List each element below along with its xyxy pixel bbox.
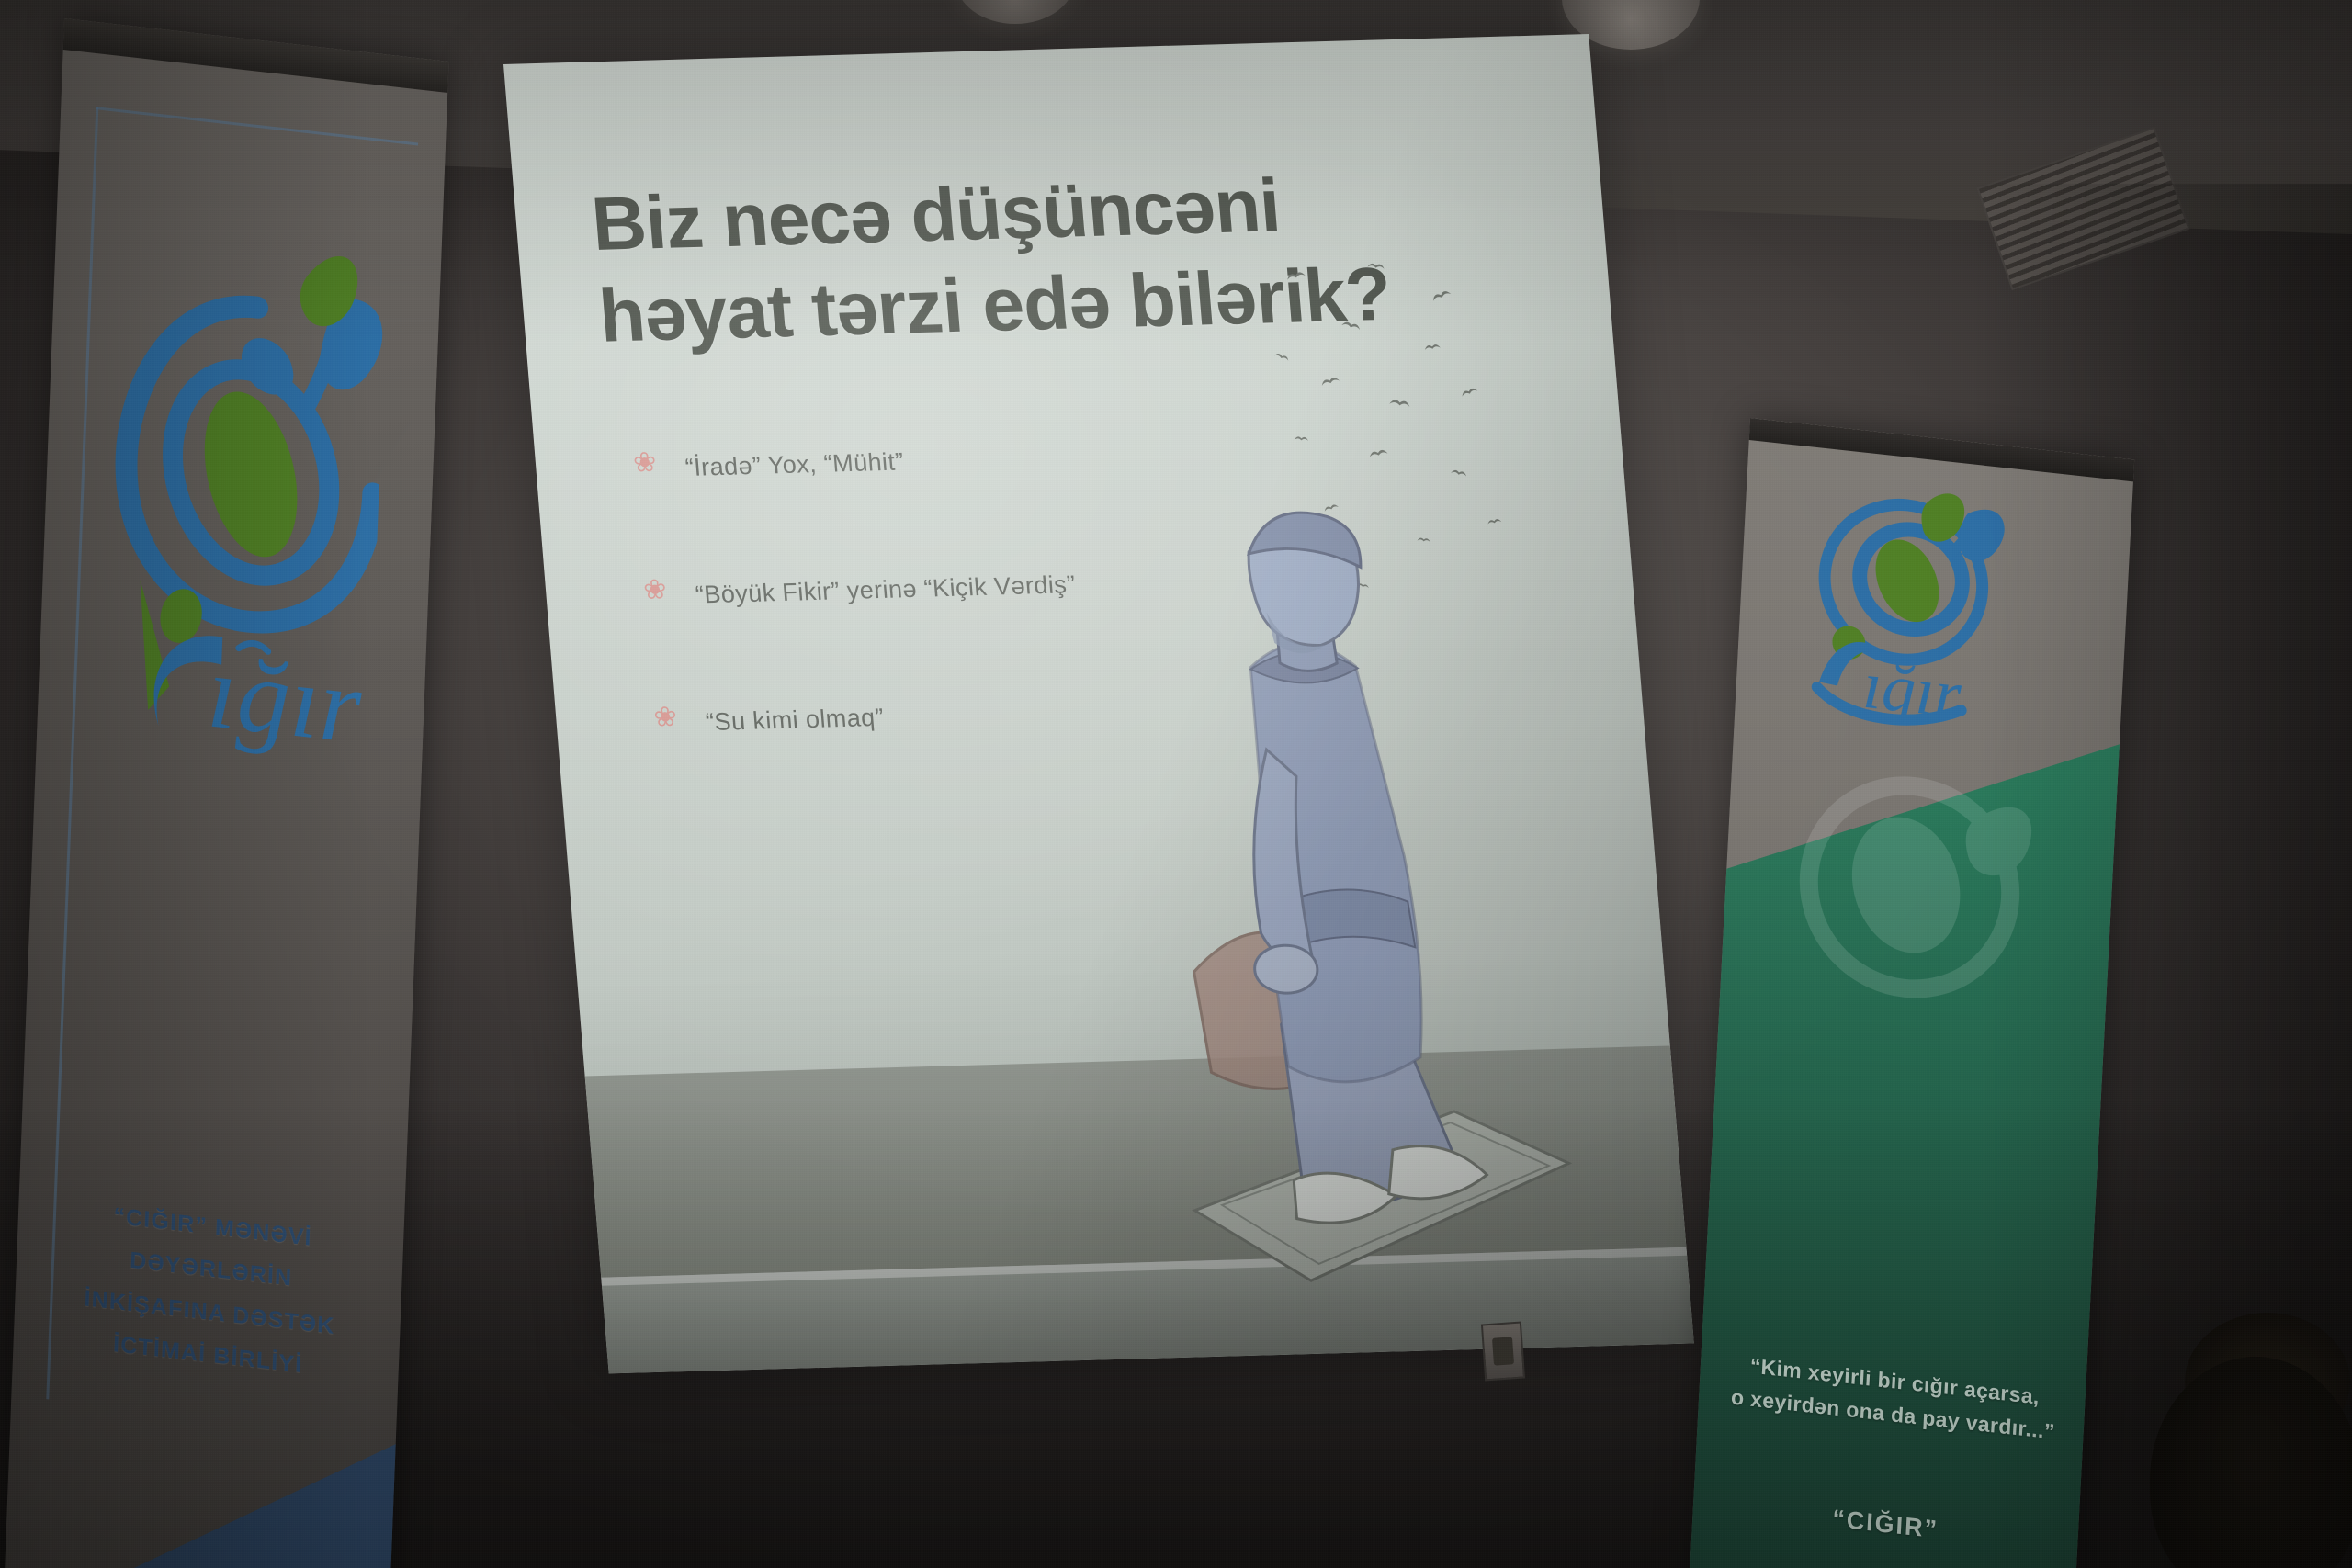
bird-icon: [1294, 434, 1309, 443]
bird-icon: [1459, 384, 1480, 400]
bird-icon: [1388, 395, 1411, 411]
cigir-wordmark-text-right: ığır: [1861, 648, 1964, 734]
projection-screen: Biz necə düşüncəni həyat tərzi edə bilər…: [503, 34, 1694, 1373]
bird-icon: [1318, 373, 1341, 389]
banner-left: ığır “CIĞIR” MƏNƏVİ DƏYƏRLƏRİN İNKİŞAFIN…: [3, 18, 448, 1568]
audience-member-silhouette: [2131, 1329, 2352, 1568]
banner-left-hairline-top: [96, 107, 418, 145]
flower-icon: ❀: [642, 576, 672, 604]
wall-socket-plate: [1481, 1322, 1525, 1382]
bird-icon: [1284, 267, 1307, 283]
bird-icon: [1429, 286, 1453, 304]
cigir-logo-watermark-icon: [1757, 697, 2075, 1032]
bird-icon: [1340, 317, 1363, 333]
flower-icon: ❀: [652, 704, 682, 732]
cigir-logo-icon: ığır: [1797, 472, 2039, 745]
cigir-wordmark-text: ığır: [206, 631, 365, 767]
bullet-text: “Böyük Fikir” yerinə “Kiçik Vərdiş”: [695, 570, 1077, 608]
banner-right: ığır “Kim xeyirli bir cığır açarsa, o xe…: [1688, 418, 2134, 1568]
projected-slide: Biz necə düşüncəni həyat tərzi edə bilər…: [503, 34, 1694, 1373]
bullet-text: “İradə” Yox, “Mühit”: [684, 447, 905, 481]
audience-head-body: [2150, 1357, 2352, 1568]
bird-icon: [1367, 446, 1389, 460]
bird-icon: [1366, 260, 1385, 272]
banner-left-tagline: “CIĞIR” MƏNƏVİ DƏYƏRLƏRİN İNKİŞAFINA DƏS…: [31, 1186, 390, 1395]
bullet-text: “Su kimi olmaq”: [705, 704, 885, 736]
cigir-wordmark: ığır: [110, 569, 373, 772]
bird-icon: [1272, 349, 1291, 363]
person-kneeling-illustration: [1126, 468, 1589, 1303]
flower-icon: ❀: [632, 449, 661, 478]
photo-canvas: Biz necə düşüncəni həyat tərzi edə bilər…: [0, 0, 2352, 1568]
bird-icon: [1423, 341, 1442, 353]
